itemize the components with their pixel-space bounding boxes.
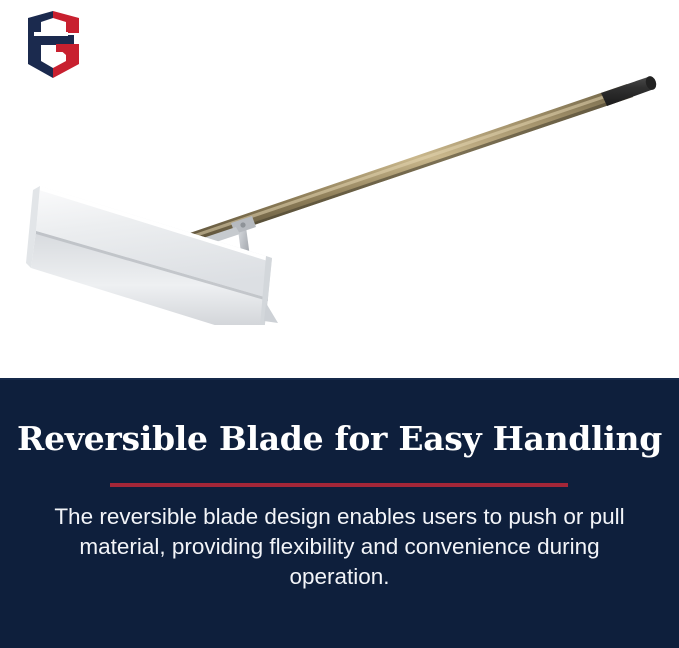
- panel-heading: Reversible Blade for Easy Handling: [0, 420, 679, 458]
- bracket-bolt: [240, 222, 245, 227]
- product-image-area: [0, 0, 679, 378]
- concrete-placer-tool-image: [0, 55, 679, 325]
- product-feature-card: Reversible Blade for Easy Handling The r…: [0, 0, 679, 648]
- shield-red-top: [53, 11, 79, 33]
- shield-notch: [34, 32, 68, 36]
- shield-crossbar: [28, 35, 74, 45]
- panel-body-text: The reversible blade design enables user…: [50, 502, 629, 592]
- info-panel: Reversible Blade for Easy Handling The r…: [0, 378, 679, 648]
- blade-right-tab: [264, 303, 278, 323]
- panel-top-divider: [0, 378, 679, 380]
- heading-accent-divider: [110, 483, 568, 487]
